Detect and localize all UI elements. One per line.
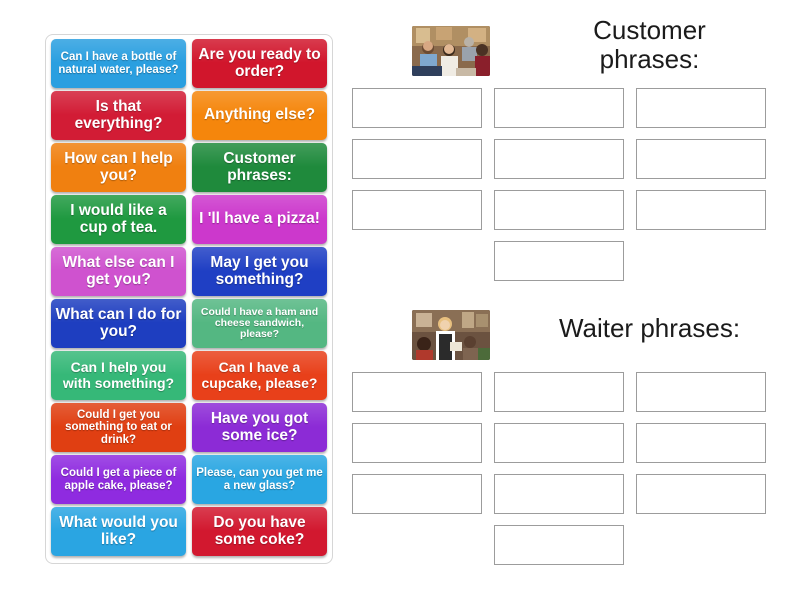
phrase-tile[interactable]: Is that everything? xyxy=(51,91,186,140)
dropzone[interactable] xyxy=(494,190,624,230)
phrase-tile-label: What can I do for you? xyxy=(55,307,182,340)
phrase-tile[interactable]: What would you like? xyxy=(51,507,186,556)
phrase-tile[interactable]: Can I have a bottle of natural water, pl… xyxy=(51,39,186,88)
phrase-tile[interactable]: Could I have a ham and cheese sandwich, … xyxy=(192,299,327,348)
phrase-tile-label: Customer phrases: xyxy=(196,151,323,184)
phrase-tile[interactable]: Can I have a cupcake, please? xyxy=(192,351,327,400)
answer-group-customer: Customer phrases: xyxy=(352,20,782,281)
dropzone[interactable] xyxy=(636,190,766,230)
phrase-tile[interactable]: Can I help you with something? xyxy=(51,351,186,400)
phrase-tile-label: Can I have a cupcake, please? xyxy=(196,360,323,390)
dropzone[interactable] xyxy=(352,474,482,514)
phrase-tile-label: Can I help you with something? xyxy=(55,360,182,390)
phrase-tile[interactable]: How can I help you? xyxy=(51,143,186,192)
phrase-tile-label: I 'll have a pizza! xyxy=(199,211,320,228)
group-header-customer: Customer phrases: xyxy=(352,20,782,82)
phrase-tile-label: Could I get you something to eat or drin… xyxy=(55,409,182,446)
dropzone[interactable] xyxy=(636,139,766,179)
group-title-waiter: Waiter phrases: xyxy=(517,314,782,343)
phrase-tile[interactable]: I would like a cup of tea. xyxy=(51,195,186,244)
dropzone[interactable] xyxy=(494,525,624,565)
phrase-tile-label: Can I have a bottle of natural water, pl… xyxy=(55,51,182,76)
group-title-customer: Customer phrases: xyxy=(517,16,782,74)
group-header-waiter: Waiter phrases: xyxy=(352,304,782,366)
phrase-tile[interactable]: What can I do for you? xyxy=(51,299,186,348)
dropzone[interactable] xyxy=(494,474,624,514)
dropzone[interactable] xyxy=(352,423,482,463)
phrase-tile-label: How can I help you? xyxy=(55,151,182,184)
phrase-tile-label: Have you got some ice? xyxy=(196,411,323,444)
phrase-tile-label: Could I get a piece of apple cake, pleas… xyxy=(55,467,182,492)
phrase-tile-label: Is that everything? xyxy=(55,99,182,132)
dropzone[interactable] xyxy=(636,423,766,463)
phrase-tile-tray: Can I have a bottle of natural water, pl… xyxy=(45,34,333,564)
dropzone[interactable] xyxy=(352,139,482,179)
dropzone-grid-waiter xyxy=(352,372,782,565)
phrase-tile[interactable]: I 'll have a pizza! xyxy=(192,195,327,244)
dropzone[interactable] xyxy=(494,241,624,281)
dropzone[interactable] xyxy=(352,88,482,128)
waitress-serving-photo xyxy=(412,310,490,360)
phrase-tile-label: Are you ready to order? xyxy=(196,47,323,80)
phrase-tile[interactable]: May I get you something? xyxy=(192,247,327,296)
phrase-tile[interactable]: Customer phrases: xyxy=(192,143,327,192)
dropzone[interactable] xyxy=(494,423,624,463)
answer-group-waiter: Waiter phrases: xyxy=(352,304,782,565)
phrase-tile-label: What else can I get you? xyxy=(55,255,182,288)
phrase-tile-grid: Can I have a bottle of natural water, pl… xyxy=(51,39,327,556)
phrase-tile[interactable]: Could I get a piece of apple cake, pleas… xyxy=(51,455,186,504)
dropzone[interactable] xyxy=(494,88,624,128)
dropzone-grid-customer xyxy=(352,88,782,281)
phrase-tile[interactable]: What else can I get you? xyxy=(51,247,186,296)
dropzone[interactable] xyxy=(636,474,766,514)
dropzone[interactable] xyxy=(636,88,766,128)
phrase-tile[interactable]: Could I get you something to eat or drin… xyxy=(51,403,186,452)
phrase-tile-label: Anything else? xyxy=(204,107,315,124)
phrase-tile-label: Please, can you get me a new glass? xyxy=(196,467,323,492)
phrase-tile[interactable]: Do you have some coke? xyxy=(192,507,327,556)
activity-canvas: Can I have a bottle of natural water, pl… xyxy=(0,0,800,600)
dropzone[interactable] xyxy=(494,139,624,179)
dropzone[interactable] xyxy=(352,190,482,230)
dropzone[interactable] xyxy=(352,372,482,412)
phrase-tile-label: Do you have some coke? xyxy=(196,515,323,548)
phrase-tile-label: May I get you something? xyxy=(196,255,323,288)
dropzone[interactable] xyxy=(494,372,624,412)
phrase-tile[interactable]: Anything else? xyxy=(192,91,327,140)
restaurant-customers-photo xyxy=(412,26,490,76)
phrase-tile-label: What would you like? xyxy=(55,515,182,548)
phrase-tile[interactable]: Have you got some ice? xyxy=(192,403,327,452)
phrase-tile[interactable]: Are you ready to order? xyxy=(192,39,327,88)
dropzone[interactable] xyxy=(636,372,766,412)
phrase-tile[interactable]: Please, can you get me a new glass? xyxy=(192,455,327,504)
phrase-tile-label: Could I have a ham and cheese sandwich, … xyxy=(196,307,323,341)
phrase-tile-label: I would like a cup of tea. xyxy=(55,203,182,236)
